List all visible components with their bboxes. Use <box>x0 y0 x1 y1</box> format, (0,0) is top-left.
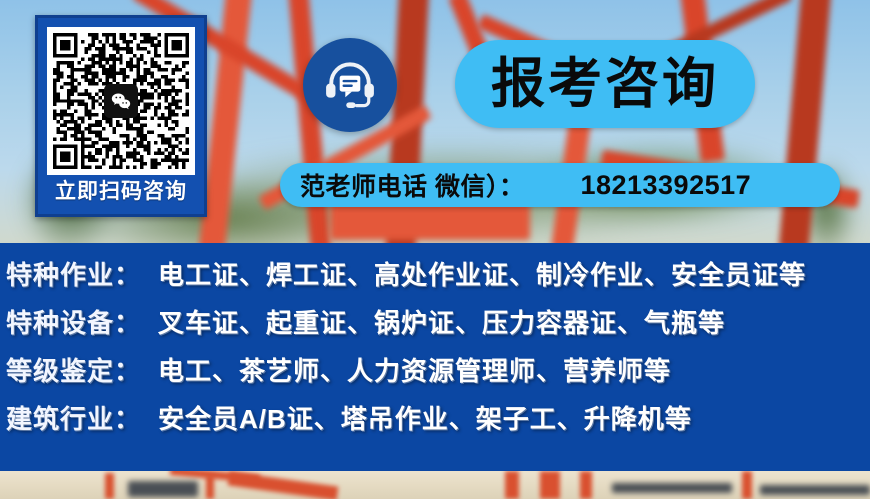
info-row-label: 等级鉴定： <box>6 351 158 388</box>
info-row: 建筑行业：安全员A/B证、塔吊作业、架子工、升降机等 <box>6 399 870 447</box>
info-panel: 特种作业：电工证、焊工证、高处作业证、制冷作业、安全员证等特种设备：叉车证、起重… <box>0 243 870 471</box>
bottom-photo-strip <box>0 471 870 499</box>
advertisement-poster: 立即扫码咨询 报考咨询 范老师电话 微信）： 18213392517 特种作业：… <box>0 0 870 499</box>
ground-post <box>206 475 214 499</box>
contact-pill[interactable]: 范老师电话 微信）： 18213392517 <box>280 163 840 207</box>
info-row-value: 安全员A/B证、塔吊作业、架子工、升降机等 <box>158 399 692 436</box>
ground-beam <box>228 471 339 499</box>
ground-post <box>742 471 752 499</box>
info-row: 特种作业：电工证、焊工证、高处作业证、制冷作业、安全员证等 <box>6 255 870 303</box>
qr-code-card[interactable]: 立即扫码咨询 <box>35 15 207 217</box>
ground-object <box>612 483 732 493</box>
page-title: 报考咨询 <box>491 57 719 111</box>
info-row: 特种设备：叉车证、起重证、锅炉证、压力容器证、气瓶等 <box>6 303 870 351</box>
ground-object <box>128 481 198 497</box>
ground-post <box>505 471 519 499</box>
qr-card-caption: 立即扫码咨询 <box>38 175 204 205</box>
info-row-label: 特种设备： <box>6 303 158 340</box>
info-row-value: 电工证、焊工证、高处作业证、制冷作业、安全员证等 <box>158 255 806 292</box>
wechat-icon <box>104 84 138 118</box>
info-row-list: 特种作业：电工证、焊工证、高处作业证、制冷作业、安全员证等特种设备：叉车证、起重… <box>6 255 870 447</box>
ground-object <box>760 485 870 495</box>
info-row-value: 叉车证、起重证、锅炉证、压力容器证、气瓶等 <box>158 303 725 340</box>
ground-post <box>540 471 560 499</box>
headset-chat-icon <box>303 38 397 132</box>
info-row-label: 特种作业： <box>6 255 158 292</box>
contact-label: 范老师电话 微信）： <box>300 167 524 203</box>
info-row-label: 建筑行业： <box>6 399 158 436</box>
ground-post <box>105 473 114 499</box>
title-pill: 报考咨询 <box>455 40 755 128</box>
ground-post <box>580 471 592 499</box>
info-row: 等级鉴定：电工、茶艺师、人力资源管理师、营养师等 <box>6 351 870 399</box>
info-row-value: 电工、茶艺师、人力资源管理师、营养师等 <box>158 351 671 388</box>
qr-code-frame <box>47 27 195 175</box>
qr-code-image <box>53 33 189 169</box>
phone-number[interactable]: 18213392517 <box>580 170 751 201</box>
